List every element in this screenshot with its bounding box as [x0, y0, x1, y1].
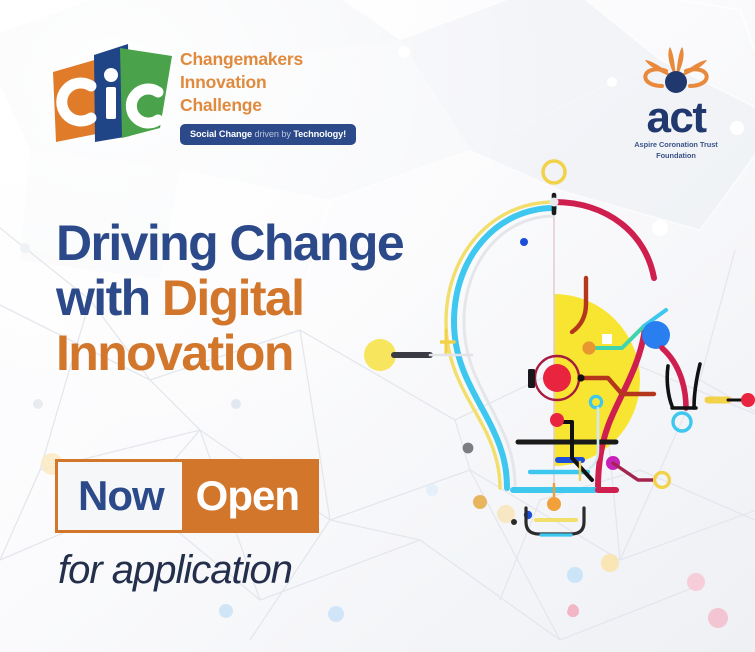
poster-canvas: Changemakers Innovation Challenge Social… [0, 0, 755, 652]
headline-line-2: with Digital [56, 271, 496, 326]
act-subtitle-line-1: Aspire Coronation Trust [612, 140, 740, 151]
cic-title-line-1: Changemakers [180, 48, 365, 71]
headline-line-1: Driving Change [56, 216, 496, 271]
subcaption-for-application: for application [58, 550, 292, 590]
cic-logo-mark [50, 42, 175, 147]
act-subtitle: Aspire Coronation Trust Foundation [612, 140, 740, 161]
headline-text-driving-change: Driving Change [56, 215, 403, 271]
headline-line-3: Innovation [56, 326, 496, 381]
badge-label-open: Open [182, 459, 319, 533]
badge-label-now: Now [58, 462, 182, 530]
status-badge-now-open: Now Open [55, 459, 319, 533]
headline-text-digital: Digital [162, 270, 304, 326]
act-orbit-icon [640, 44, 712, 100]
tagline-bold-2: Technology! [293, 129, 346, 139]
headline-text-innovation: Innovation [56, 325, 293, 381]
act-logo: act Aspire Coronation Trust Foundation [612, 44, 740, 156]
cic-logo: Changemakers Innovation Challenge Social… [50, 42, 360, 147]
cic-logo-text: Changemakers Innovation Challenge Social… [180, 48, 365, 145]
cic-tagline-badge: Social Change driven by Technology! [180, 124, 356, 145]
poster-header: Changemakers Innovation Challenge Social… [0, 0, 755, 175]
tagline-normal: driven by [252, 129, 293, 139]
act-wordmark: act [612, 96, 740, 140]
page-title: Driving Change with Digital Innovation [56, 216, 496, 381]
act-subtitle-line-2: Foundation [612, 151, 740, 162]
cic-title-line-3: Challenge [180, 94, 365, 117]
tagline-bold-1: Social Change [190, 129, 252, 139]
cic-title-line-2: Innovation [180, 71, 365, 94]
headline-text-with: with [56, 270, 162, 326]
